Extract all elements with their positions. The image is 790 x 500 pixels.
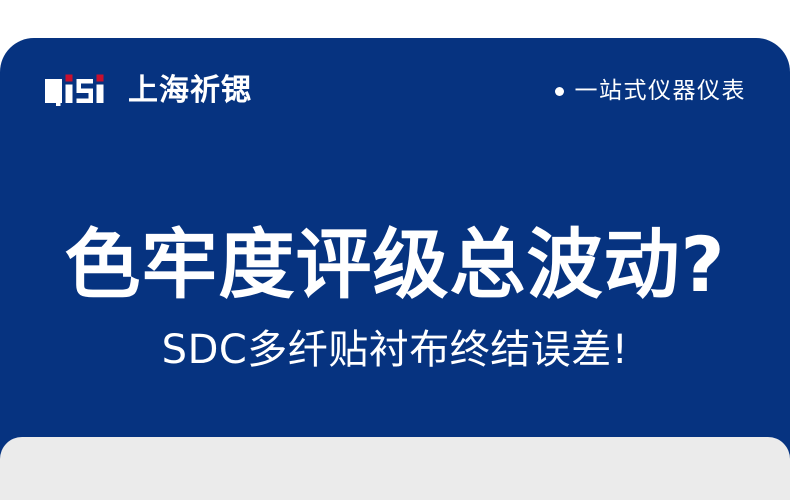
bullet-dot-icon: [555, 87, 564, 96]
hero-panel: 上海祈锶 一站式仪器仪表 色牢度评级总波动? SDC多纤贴衬布终结误差!: [0, 38, 790, 500]
header-tagline: 一站式仪器仪表: [555, 80, 747, 103]
hero-subheadline: SDC多纤贴衬布终结误差!: [0, 328, 790, 372]
banner-header: 上海祈锶 一站式仪器仪表: [0, 60, 790, 122]
hero-text-block: 色牢度评级总波动? SDC多纤贴衬布终结误差!: [0, 224, 790, 372]
tagline-text: 一站式仪器仪表: [575, 80, 747, 103]
promo-banner: 上海祈锶 一站式仪器仪表 色牢度评级总波动? SDC多纤贴衬布终结误差!: [0, 0, 790, 500]
brand-lockup[interactable]: 上海祈锶: [44, 74, 252, 108]
content-panel: [0, 437, 790, 500]
qisi-logo-icon: [44, 74, 116, 108]
brand-name: 上海祈锶: [128, 76, 252, 106]
hero-headline: 色牢度评级总波动?: [0, 224, 790, 306]
